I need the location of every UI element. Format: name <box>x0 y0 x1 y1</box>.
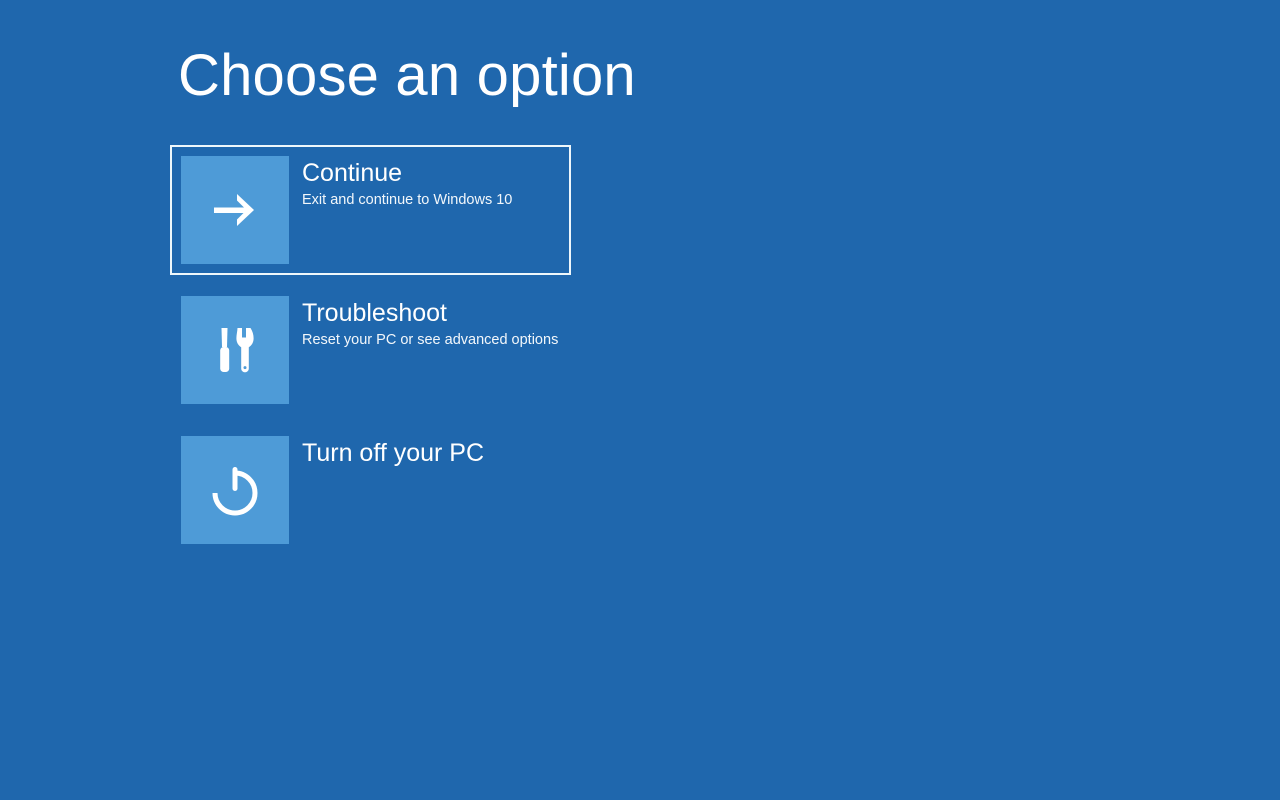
option-title: Troubleshoot <box>302 298 558 328</box>
option-continue[interactable]: Continue Exit and continue to Windows 10 <box>181 156 571 264</box>
option-description: Exit and continue to Windows 10 <box>302 191 512 210</box>
option-icon-tile-continue <box>181 156 289 264</box>
option-description: Reset your PC or see advanced options <box>302 331 558 350</box>
option-turn-off[interactable]: Turn off your PC <box>181 436 571 544</box>
screwdriver-wrench-icon <box>204 319 266 381</box>
option-text-continue: Continue Exit and continue to Windows 10 <box>289 156 512 210</box>
option-title: Continue <box>302 158 512 188</box>
option-text-troubleshoot: Troubleshoot Reset your PC or see advanc… <box>289 296 558 350</box>
option-text-turn-off: Turn off your PC <box>289 436 484 471</box>
option-troubleshoot[interactable]: Troubleshoot Reset your PC or see advanc… <box>181 296 571 404</box>
power-icon <box>204 459 266 521</box>
page-title: Choose an option <box>178 44 636 108</box>
arrow-right-icon <box>204 179 266 241</box>
option-icon-tile-turn-off <box>181 436 289 544</box>
options-list: Continue Exit and continue to Windows 10 <box>181 156 881 576</box>
option-title: Turn off your PC <box>302 438 484 468</box>
recovery-screen: Choose an option Continue Exit and conti… <box>0 0 1280 800</box>
option-icon-tile-troubleshoot <box>181 296 289 404</box>
